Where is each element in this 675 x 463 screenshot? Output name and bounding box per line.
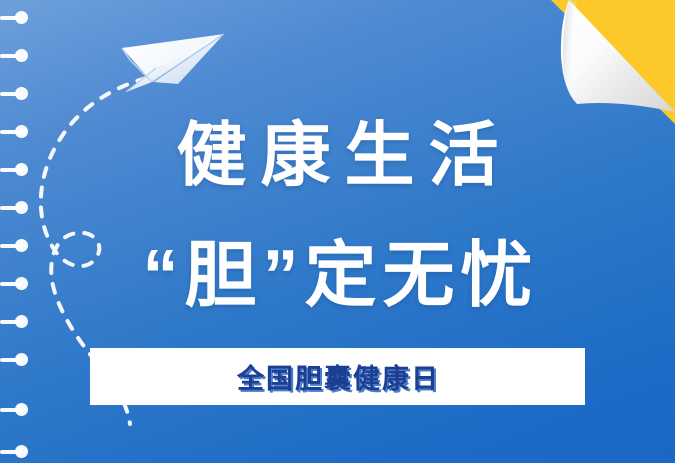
binding-ring-knob — [15, 125, 28, 138]
binding-ring-knob — [15, 87, 28, 100]
title-line-1: 健康生活 — [0, 112, 675, 198]
spiral-binding — [0, 0, 40, 463]
title-line-2: “胆”定无忧 — [0, 232, 675, 320]
binding-ring-knob — [15, 403, 28, 416]
binding-ring-knob — [15, 49, 28, 62]
binding-ring-knob — [15, 201, 28, 214]
binding-ring-knob — [15, 277, 28, 290]
binding-ring-knob — [15, 239, 28, 252]
binding-ring-knob — [15, 11, 28, 24]
subtitle-banner-label: 全国胆囊健康日 — [235, 357, 440, 396]
binding-ring-knob — [15, 315, 28, 328]
binding-ring-knob — [15, 445, 28, 458]
poster-canvas: 健康生活 “胆”定无忧 全国胆囊健康日 — [0, 0, 675, 463]
binding-ring-knob — [15, 163, 28, 176]
binding-ring-knob — [15, 353, 28, 366]
subtitle-banner: 全国胆囊健康日 — [90, 348, 585, 405]
